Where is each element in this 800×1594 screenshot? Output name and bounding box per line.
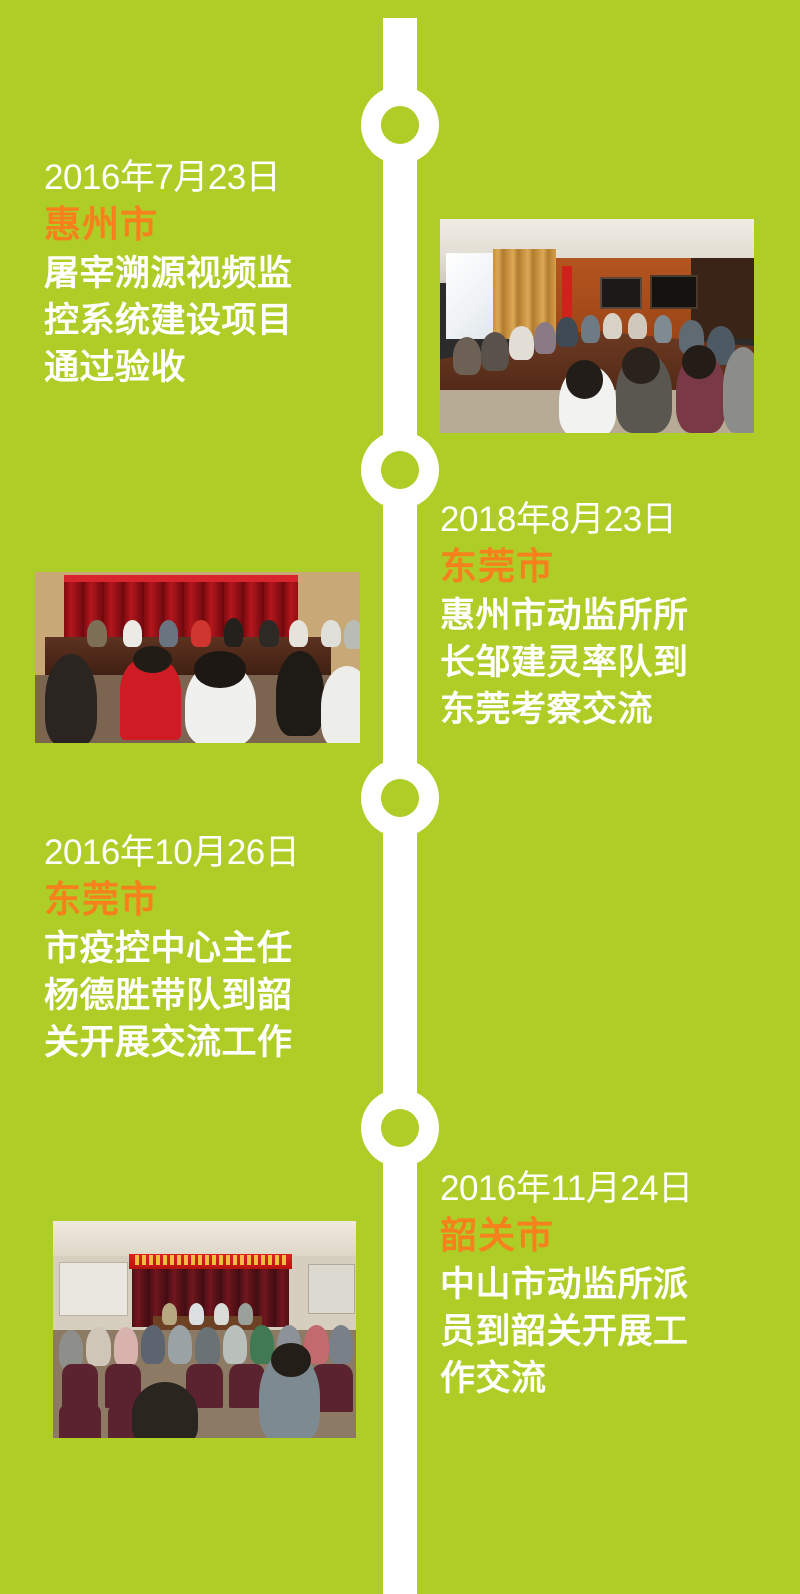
entry-4-city: 韶关市 — [440, 1211, 770, 1261]
photo-3-attendee — [195, 1327, 219, 1366]
photo-3-attendee — [141, 1325, 165, 1364]
photo-2-scene — [35, 572, 360, 743]
photo-3-foreground-attendee — [271, 1343, 310, 1378]
photo-1-attendee — [481, 332, 509, 371]
photo-1-monitor-left — [600, 277, 642, 309]
photo-2-panelist — [259, 620, 279, 647]
timeline-entry-4-text: 2016年11月24日 韶关市 中山市动监所派 员到韶关开展工 作交流 — [440, 1166, 770, 1402]
photo-2-panelist — [123, 620, 143, 647]
entry-3-body-line-1: 市疫控中心主任 — [44, 925, 374, 972]
photo-2-panelist — [191, 620, 211, 647]
photo-2-audience-member — [45, 654, 97, 743]
photo-3-ceiling — [53, 1221, 356, 1256]
entry-2-body-line-1: 惠州市动监所所 — [440, 592, 770, 639]
photo-2-panelist — [159, 620, 179, 647]
photo-1-attendee — [453, 337, 481, 376]
photo-1-scene — [440, 219, 754, 433]
photo-2-curtain-valance — [64, 575, 298, 582]
photo-2-audience-member — [194, 651, 246, 689]
entry-3-date: 2016年10月26日 — [44, 830, 374, 875]
photo-3-chair — [59, 1403, 101, 1438]
photo-1-attendee — [509, 326, 534, 360]
photo-1-attendee — [556, 317, 578, 347]
entry-2-body-line-3: 东莞考察交流 — [440, 686, 770, 733]
entry-1-body-line-3: 通过验收 — [44, 344, 374, 391]
photo-3-banner-text — [135, 1255, 286, 1266]
timeline-node-1 — [361, 86, 439, 164]
entry-1-body-line-2: 控系统建设项目 — [44, 297, 374, 344]
timeline-node-4 — [361, 1089, 439, 1167]
photo-3-attendee — [168, 1325, 192, 1364]
photo-training-hall-banner-meeting — [53, 1221, 356, 1438]
photo-3-projection-screen-right — [308, 1264, 355, 1314]
photo-3-official — [214, 1303, 229, 1325]
photo-1-attendee — [534, 322, 556, 354]
entry-2-date: 2018年8月23日 — [440, 497, 770, 542]
photo-3-official — [162, 1303, 177, 1325]
entry-4-date: 2016年11月24日 — [440, 1166, 770, 1211]
timeline-entry-3-text: 2016年10月26日 东莞市 市疫控中心主任 杨德胜带队到韶 关开展交流工作 — [44, 830, 374, 1066]
photo-1-chinese-flag — [562, 266, 571, 322]
timeline-infographic: 2016年7月23日 惠州市 屠宰溯源视频监 控系统建设项目 通过验收 — [0, 0, 800, 1594]
entry-3-body: 市疫控中心主任 杨德胜带队到韶 关开展交流工作 — [44, 925, 374, 1066]
photo-1-window — [446, 253, 496, 339]
photo-3-attendee — [59, 1330, 83, 1369]
photo-2-panelist — [87, 620, 107, 647]
photo-3-red-banner — [129, 1254, 293, 1269]
photo-3-projection-screen-left — [59, 1262, 128, 1316]
entry-1-body: 屠宰溯源视频监 控系统建设项目 通过验收 — [44, 250, 374, 391]
photo-3-official — [189, 1303, 204, 1325]
entry-2-body: 惠州市动监所所 长邹建灵率队到 东莞考察交流 — [440, 592, 770, 733]
entry-4-body-line-2: 员到韶关开展工 — [440, 1308, 770, 1355]
photo-3-attendee — [114, 1327, 138, 1366]
timeline-spine-top-cap — [383, 0, 417, 18]
photo-1-attendee — [628, 313, 647, 339]
photo-3-official — [238, 1303, 253, 1325]
photo-2-panelist — [289, 620, 309, 647]
photo-1-foreground-attendee — [622, 347, 660, 383]
entry-1-body-line-1: 屠宰溯源视频监 — [44, 250, 374, 297]
photo-3-attendee — [86, 1327, 110, 1366]
photo-1-foreground-attendee — [723, 347, 754, 433]
photo-3-chair — [62, 1364, 98, 1407]
entry-3-body-line-2: 杨德胜带队到韶 — [44, 972, 374, 1019]
timeline-node-2 — [361, 431, 439, 509]
photo-conference-room-meeting — [440, 219, 754, 433]
photo-1-attendee — [581, 315, 600, 343]
entry-1-city: 惠州市 — [44, 200, 374, 250]
photo-3-attendee — [329, 1325, 353, 1364]
entry-1-date: 2016年7月23日 — [44, 155, 374, 200]
photo-1-attendee — [654, 315, 673, 343]
photo-3-scene — [53, 1221, 356, 1438]
entry-4-body-line-3: 作交流 — [440, 1355, 770, 1402]
timeline-node-3 — [361, 759, 439, 837]
entry-4-body-line-1: 中山市动监所派 — [440, 1261, 770, 1308]
entry-2-city: 东莞市 — [440, 542, 770, 592]
photo-1-attendee — [603, 313, 622, 339]
photo-1-foreground-attendee — [566, 360, 604, 399]
photo-2-panelist — [321, 620, 341, 647]
timeline-entry-1-text: 2016年7月23日 惠州市 屠宰溯源视频监 控系统建设项目 通过验收 — [44, 155, 374, 391]
photo-1-monitor-right — [650, 275, 698, 309]
entry-4-body: 中山市动监所派 员到韶关开展工 作交流 — [440, 1261, 770, 1402]
photo-2-audience-member — [133, 646, 172, 673]
timeline-entry-2-text: 2018年8月23日 东莞市 惠州市动监所所 长邹建灵率队到 东莞考察交流 — [440, 497, 770, 733]
entry-3-body-line-3: 关开展交流工作 — [44, 1019, 374, 1066]
photo-auditorium-panel-meeting — [35, 572, 360, 743]
photo-2-panelist — [224, 618, 244, 647]
entry-3-city: 东莞市 — [44, 875, 374, 925]
photo-2-audience-member — [276, 651, 325, 737]
photo-2-panelist — [344, 620, 360, 649]
entry-2-body-line-2: 长邹建灵率队到 — [440, 639, 770, 686]
photo-3-attendee — [223, 1325, 247, 1364]
